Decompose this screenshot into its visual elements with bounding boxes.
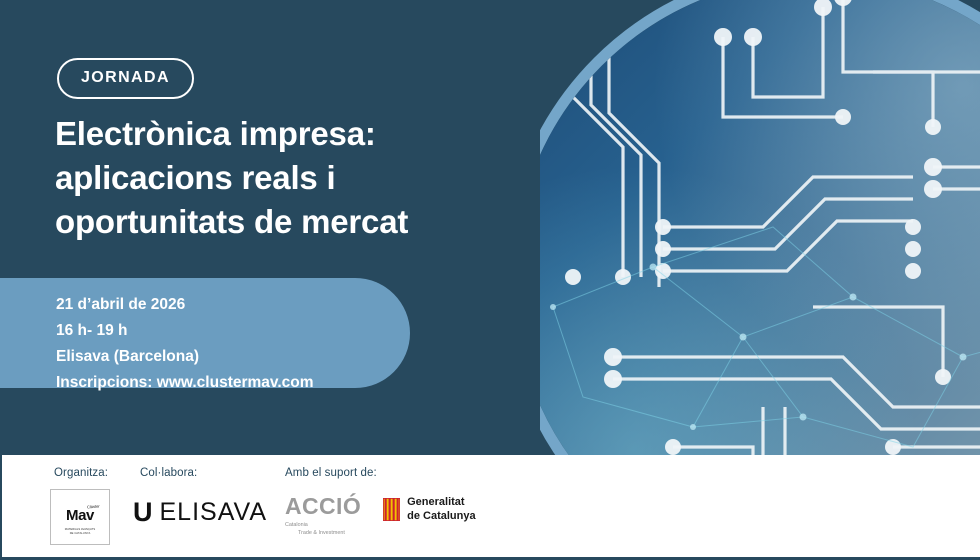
organizer-label: Organitza:: [54, 467, 108, 479]
event-date: 21 d’abril de 2026: [56, 292, 314, 318]
event-banner: JORNADA Electrònica impresa: aplicacions…: [0, 0, 980, 560]
mav-logo: Mav Clúster MATERIALS AVANÇATS DE CATALU…: [50, 489, 110, 545]
generalitat-wordmark: Generalitat de Catalunya: [407, 495, 475, 524]
generalitat-logo: Generalitat de Catalunya: [383, 495, 475, 524]
collaborator-label: Col·labora:: [140, 467, 197, 479]
mav-wordmark: Mav: [51, 507, 109, 524]
generalitat-line-2: de Catalunya: [407, 509, 475, 523]
accio-logo: ACCIÓ Catalonia Trade & Investment: [285, 495, 361, 538]
footer-logos-bar: Organitza: Mav Clúster MATERIALS AVANÇAT…: [0, 455, 980, 560]
accio-wordmark: ACCIÓ: [285, 495, 361, 518]
mav-subtext-line-2: DE CATALUNYA: [51, 532, 109, 536]
elisava-mark: U: [133, 499, 153, 526]
support-block: Amb el suport de:: [285, 467, 377, 479]
accio-subtext-line-1: Catalonia: [285, 521, 361, 529]
generalitat-shield-icon: [383, 498, 400, 521]
event-venue: Elisava (Barcelona): [56, 344, 314, 370]
accio-subtext-line-2: Trade & Investment: [298, 529, 361, 537]
organizer-logo: Mav Clúster MATERIALS AVANÇATS DE CATALU…: [50, 489, 110, 545]
organizer-block: Organitza:: [54, 467, 108, 479]
headline-line-2: aplicacions reals i: [55, 156, 525, 200]
generalitat-line-1: Generalitat: [407, 495, 475, 509]
headline-line-3: oportunitats de mercat: [55, 200, 525, 244]
support-label: Amb el suport de:: [285, 467, 377, 479]
support-logos: ACCIÓ Catalonia Trade & Investment Gener…: [285, 495, 476, 538]
page-title: Electrònica impresa: aplicacions reals i…: [55, 112, 525, 245]
event-details-panel: 21 d’abril de 2026 16 h- 19 h Elisava (B…: [0, 278, 410, 388]
event-details-list: 21 d’abril de 2026 16 h- 19 h Elisava (B…: [56, 292, 314, 396]
elisava-logo: U ELISAVA: [133, 499, 267, 526]
event-time: 16 h- 19 h: [56, 318, 314, 344]
jornada-badge: JORNADA: [57, 58, 194, 99]
mav-subtext: MATERIALS AVANÇATS DE CATALUNYA: [51, 528, 109, 536]
collaborator-block: Col·labora:: [140, 467, 197, 479]
accio-subtext: Catalonia Trade & Investment: [285, 521, 361, 538]
collaborator-logo: U ELISAVA: [133, 499, 267, 526]
headline-line-1: Electrònica impresa:: [55, 112, 525, 156]
event-registration-url[interactable]: Inscripcions: www.clustermav.com: [56, 370, 314, 396]
mav-superscript: Clúster: [87, 504, 100, 510]
elisava-wordmark: ELISAVA: [160, 500, 268, 525]
